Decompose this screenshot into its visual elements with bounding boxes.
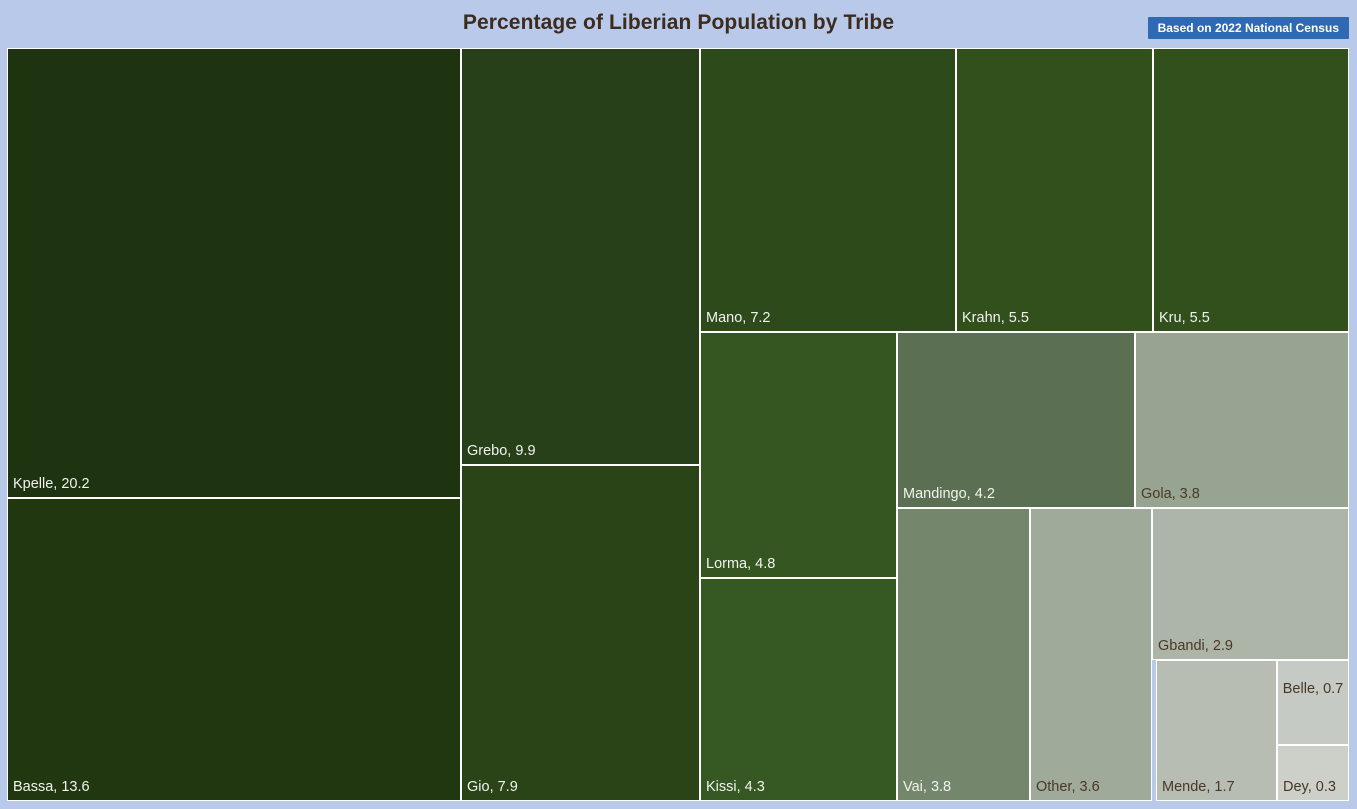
treemap-tile-label: Other, 3.6 — [1036, 778, 1100, 796]
chart-header: Percentage of Liberian Population by Tri… — [0, 0, 1357, 48]
treemap-tile-label: Kru, 5.5 — [1159, 309, 1210, 327]
treemap-tile-label: Gola, 3.8 — [1141, 485, 1200, 503]
treemap-tile-label: Mende, 1.7 — [1162, 778, 1235, 796]
treemap-plot-area: Kpelle, 20.2Bassa, 13.6Grebo, 9.9Gio, 7.… — [7, 48, 1349, 801]
treemap-tile-gio[interactable]: Gio, 7.9 — [461, 465, 700, 801]
treemap-tile-gbandi[interactable]: Gbandi, 2.9 — [1152, 508, 1349, 660]
treemap-tile-gola[interactable]: Gola, 3.8 — [1135, 332, 1349, 508]
treemap-tile-kpelle[interactable]: Kpelle, 20.2 — [7, 48, 461, 498]
treemap-tile-label: Krahn, 5.5 — [962, 309, 1029, 327]
treemap-tile-label: Mano, 7.2 — [706, 309, 771, 327]
treemap-tile-label: Kpelle, 20.2 — [13, 475, 90, 493]
treemap-tile-grebo[interactable]: Grebo, 9.9 — [461, 48, 700, 465]
treemap-tile-label: Belle, 0.7 — [1278, 680, 1348, 698]
treemap-tile-mano[interactable]: Mano, 7.2 — [700, 48, 956, 332]
treemap-chart-app: Percentage of Liberian Population by Tri… — [0, 0, 1357, 809]
treemap-tile-label: Vai, 3.8 — [903, 778, 951, 796]
treemap-tile-dey[interactable]: Dey, 0.3 — [1277, 745, 1349, 801]
treemap-tile-kissi[interactable]: Kissi, 4.3 — [700, 578, 897, 801]
treemap-tile-label: Mandingo, 4.2 — [903, 485, 995, 503]
treemap-tile-vai[interactable]: Vai, 3.8 — [897, 508, 1030, 801]
treemap-tile-krahn[interactable]: Krahn, 5.5 — [956, 48, 1153, 332]
treemap-tile-lorma[interactable]: Lorma, 4.8 — [700, 332, 897, 578]
treemap-tile-label: Kissi, 4.3 — [706, 778, 765, 796]
treemap-tile-label: Bassa, 13.6 — [13, 778, 90, 796]
treemap-tile-kru[interactable]: Kru, 5.5 — [1153, 48, 1349, 332]
treemap-tile-label: Grebo, 9.9 — [467, 442, 536, 460]
treemap-tile-label: Gbandi, 2.9 — [1158, 637, 1233, 655]
treemap-tile-label: Dey, 0.3 — [1283, 778, 1336, 796]
treemap-tile-mandingo[interactable]: Mandingo, 4.2 — [897, 332, 1135, 508]
treemap-tile-label: Gio, 7.9 — [467, 778, 518, 796]
treemap-tile-label: Lorma, 4.8 — [706, 555, 775, 573]
treemap-tile-other[interactable]: Other, 3.6 — [1030, 508, 1152, 801]
source-badge: Based on 2022 National Census — [1148, 17, 1349, 39]
treemap-tile-belle[interactable]: Belle, 0.7 — [1277, 660, 1349, 745]
treemap-tile-mende[interactable]: Mende, 1.7 — [1156, 660, 1277, 801]
treemap-tile-bassa[interactable]: Bassa, 13.6 — [7, 498, 461, 801]
